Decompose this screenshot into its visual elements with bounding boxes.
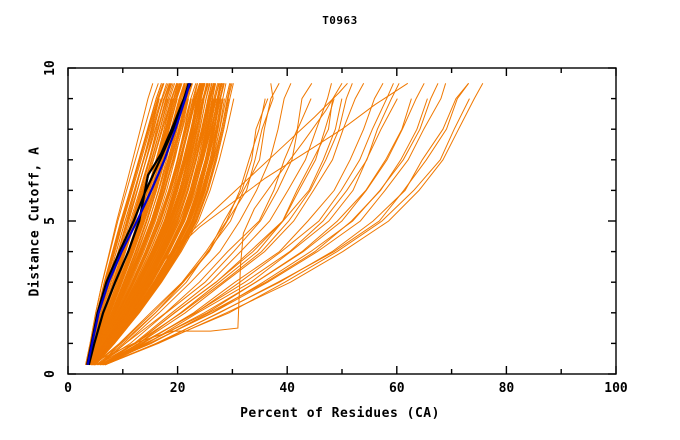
y-tick-label: 10 [43, 60, 58, 76]
data-curves-group [86, 83, 483, 365]
y-tick-label: 5 [43, 217, 58, 225]
x-tick-label: 20 [170, 381, 186, 396]
x-tick-label: 80 [499, 381, 515, 396]
x-tick-label: 0 [64, 381, 72, 396]
x-tick-label: 60 [389, 381, 405, 396]
chart-figure: T0963 Percent of Residues (CA) Distance … [0, 0, 680, 440]
y-tick-label: 0 [43, 370, 58, 378]
x-tick-label: 40 [279, 381, 295, 396]
plot-canvas: 0204060801000510 [0, 0, 680, 440]
x-tick-label: 100 [604, 381, 628, 396]
